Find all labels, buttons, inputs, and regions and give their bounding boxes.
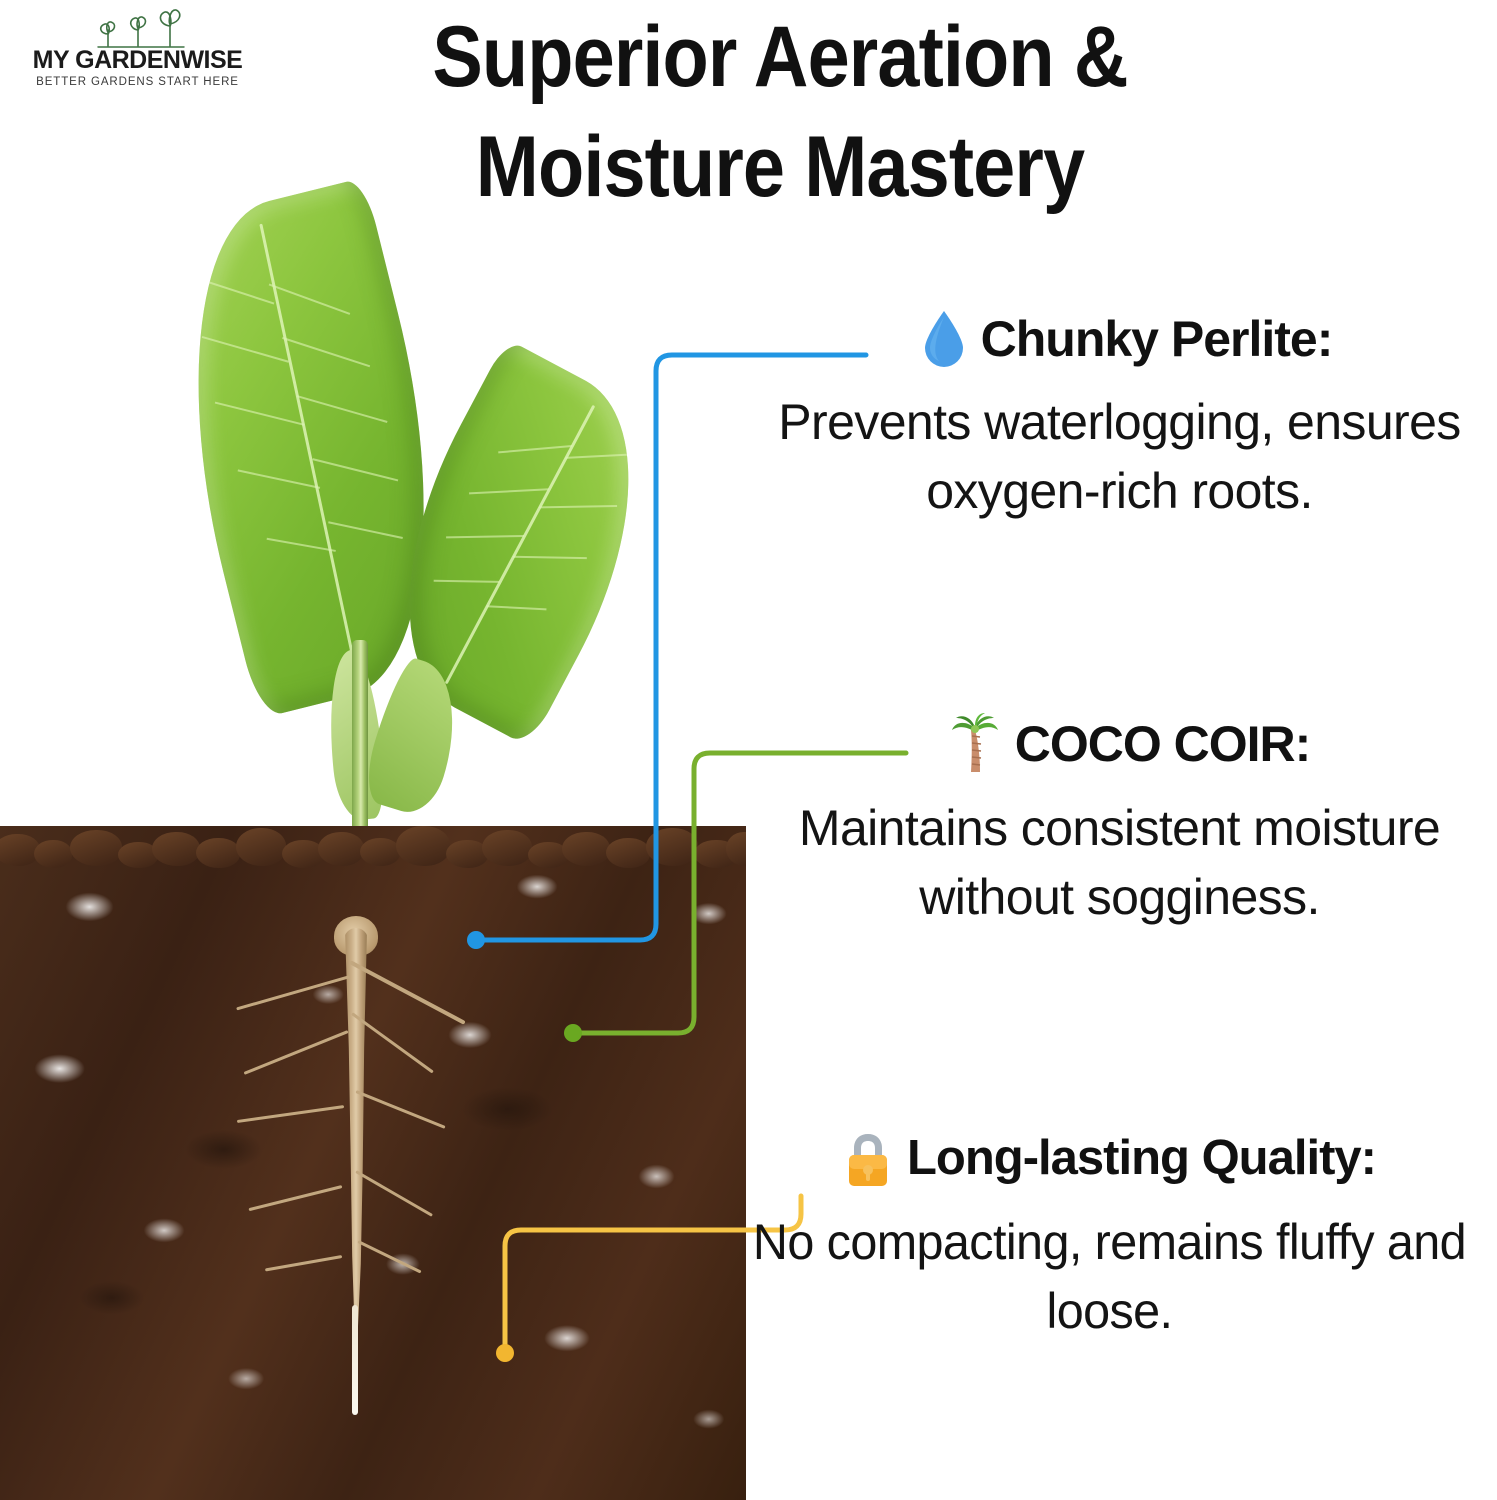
callout-body-coir: Maintains consistent moisture without so… (742, 794, 1497, 932)
padlock-icon (843, 1128, 893, 1190)
brand-tagline: BETTER GARDENS START HERE (10, 76, 265, 88)
product-photo-panel (0, 0, 746, 1500)
callout-coco-coir: COCO COIR: Maintains consistent moisture… (742, 712, 1497, 932)
callout-title-perlite: Chunky Perlite: (981, 313, 1333, 366)
palm-tree-icon (949, 712, 1001, 776)
callout-title-quality: Long-lasting Quality: (907, 1133, 1376, 1184)
soil-surface (0, 826, 746, 870)
callout-body-perlite: Prevents waterlogging, ensures oxygen-ri… (742, 388, 1497, 526)
callout-long-lasting-quality: Long-lasting Quality: No compacting, rem… (722, 1128, 1497, 1346)
plant-stem (352, 640, 368, 855)
page-title: Superior Aeration & Moisture Mastery (344, 2, 1215, 222)
callout-chunky-perlite: Chunky Perlite: Prevents waterlogging, e… (742, 308, 1497, 526)
brand-name: MY GARDENWISE (10, 46, 265, 75)
brand-logo[interactable]: MY GARDENWISE BETTER GARDENS START HERE (10, 6, 265, 98)
callout-title-coir: COCO COIR: (1015, 718, 1311, 771)
root-tip (352, 1305, 358, 1415)
water-droplet-icon (921, 308, 967, 370)
callout-body-quality: No compacting, remains fluffy and loose. (734, 1208, 1486, 1346)
headline-line-2: Moisture Mastery (344, 112, 1215, 222)
headline-line-1: Superior Aeration & (344, 2, 1215, 112)
